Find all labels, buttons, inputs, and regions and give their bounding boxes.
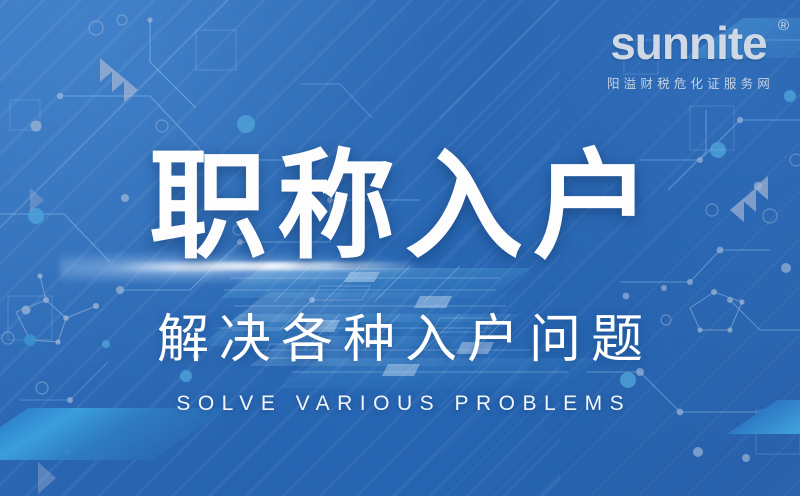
page-title: 职称入户 <box>139 146 661 266</box>
logo-subtitle: 阳溢财税危化证服务网 <box>603 73 774 92</box>
english-tagline-block: SOLVE VARIOUS PROBLEMS <box>0 392 800 416</box>
registered-trademark-icon: ® <box>778 18 789 33</box>
english-tagline: SOLVE VARIOUS PROBLEMS <box>169 392 631 416</box>
brand-logo[interactable]: sunnite ® 阳溢财税危化证服务网 <box>603 20 774 92</box>
headline-block: 职称入户 <box>0 146 800 266</box>
subheadline-block: 解决各种入户问题 <box>0 312 800 369</box>
page-subtitle: 解决各种入户问题 <box>147 312 653 369</box>
logo-wordmark: sunnite <box>610 20 767 66</box>
promo-banner: sunnite ® 阳溢财税危化证服务网 职称入户 解决各种入户问题 SOLVE… <box>0 0 800 496</box>
